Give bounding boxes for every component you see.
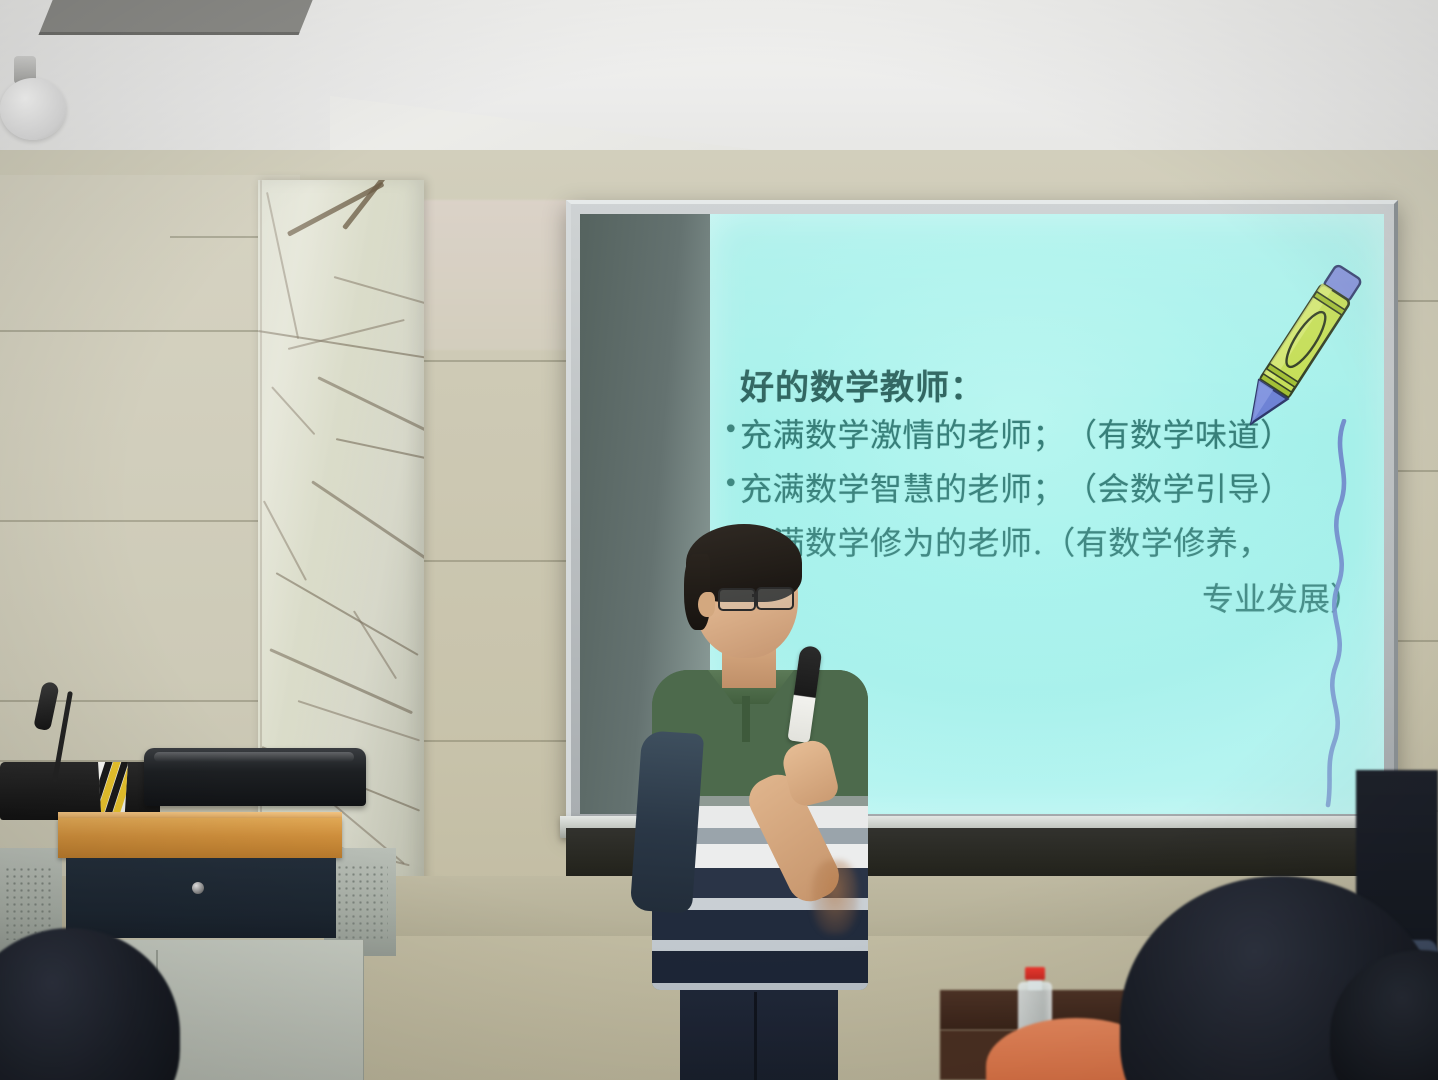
podium-monitor [144, 748, 366, 806]
speaker-grille-icon [336, 864, 388, 942]
speaker-left-arm [630, 730, 704, 914]
bullet-1-text: 充满数学激情的老师； [740, 410, 1065, 456]
wall-seam [1398, 470, 1438, 472]
paper-cup [96, 762, 130, 818]
wavy-line-icon [1306, 419, 1376, 809]
presentation-photo: 好的数学教师： • 充满数学激情的老师； （有数学味道） • 充满数学智慧的老师… [0, 0, 1438, 1080]
wall-seam [1398, 640, 1438, 642]
crayon-icon [1226, 252, 1376, 442]
water-bottle-cap [1025, 967, 1045, 980]
dome-light-icon [0, 78, 66, 140]
speaker-figure [636, 520, 896, 1080]
speaker-left-hand-motion-blur [812, 860, 858, 934]
wall-seam [170, 236, 262, 238]
bullet-2-paren: （会数学引导） [1065, 464, 1293, 510]
speaker-trousers [680, 980, 838, 1080]
bullet-2-text: 充满数学智慧的老师； [740, 464, 1065, 510]
slide-bullet-1: • 充满数学激情的老师； （有数学味道） [722, 410, 1293, 456]
slide-bullet-2: • 充满数学智慧的老师； （会数学引导） [722, 464, 1293, 510]
lock-icon [192, 882, 204, 894]
lectern-wood-panel [58, 818, 342, 858]
wall-seam [1398, 300, 1438, 302]
bullet-marker-icon: • [722, 464, 740, 504]
wall-seam [424, 560, 570, 562]
wall-seam [424, 360, 570, 362]
speaker-ear [698, 592, 715, 617]
bullet-marker-icon: • [722, 410, 740, 450]
glasses-icon [756, 587, 794, 610]
shirt-placket [742, 696, 750, 742]
slide-title: 好的数学教师： [740, 360, 985, 409]
trouser-seam [754, 992, 757, 1080]
wall-seam [0, 330, 262, 332]
air-vent-icon [39, 0, 318, 35]
wall-seam [0, 520, 262, 522]
glasses-icon [718, 588, 756, 611]
speaker-grille-icon [4, 866, 52, 940]
bullet-3-paren: （有数学修养， [1043, 518, 1271, 564]
lectern-front-panel [66, 858, 336, 938]
wall-seam [424, 740, 570, 742]
glasses-bridge [752, 594, 758, 597]
